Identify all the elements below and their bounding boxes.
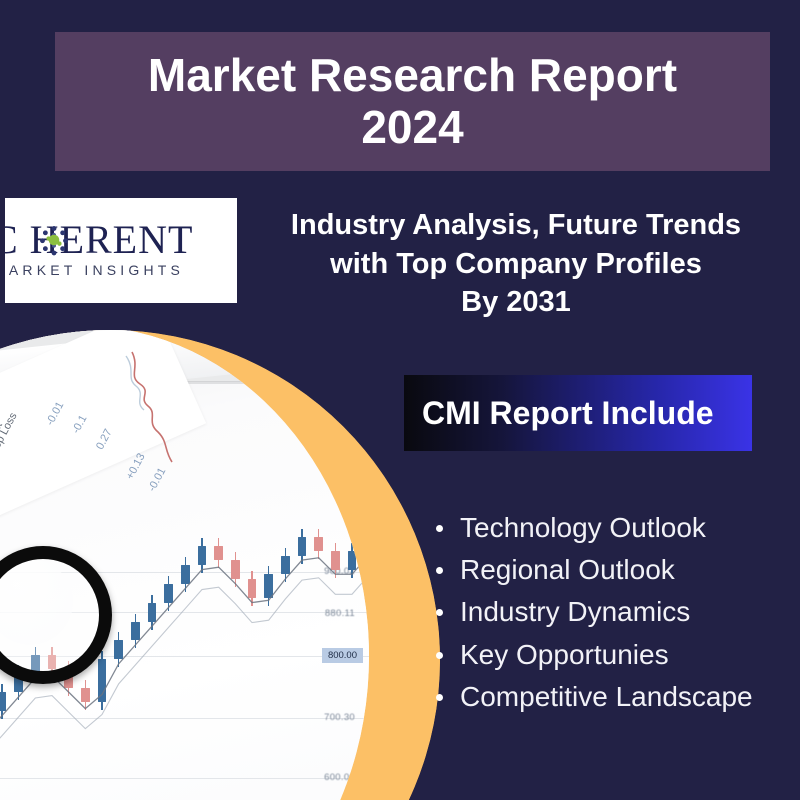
photo-clip: Stop Loss Take Profit -0.01 -0.1 0.27 +0… bbox=[0, 330, 369, 800]
list-item: Industry Dynamics bbox=[424, 592, 794, 631]
logo-tagline: MARKET INSIGHTS bbox=[5, 262, 237, 278]
title-line-1: Market Research Report bbox=[148, 50, 677, 102]
subtitle-line-1: Industry Analysis, Future Trends bbox=[238, 206, 794, 245]
list-item: Key Opportunies bbox=[424, 635, 794, 674]
subtitle-line-2: with Top Company Profiles bbox=[238, 245, 794, 284]
subtitle-block: Industry Analysis, Future Trends with To… bbox=[238, 206, 794, 322]
list-item: Regional Outlook bbox=[424, 550, 794, 589]
report-contents-list: Technology Outlook Regional Outlook Indu… bbox=[424, 508, 794, 719]
logo-inner: C HERENT MARKET INSIGHTS bbox=[5, 220, 237, 282]
note-number-5: -0.01 bbox=[146, 466, 168, 494]
list-item: Competitive Landscape bbox=[424, 677, 794, 716]
red-trend-squiggle bbox=[124, 350, 264, 465]
cmi-report-include-banner: CMI Report Include bbox=[404, 375, 752, 451]
grid-line bbox=[0, 778, 369, 779]
globe-sphere-icon bbox=[36, 222, 72, 258]
cmi-banner-label: CMI Report Include bbox=[404, 395, 714, 432]
photo-circle: Stop Loss Take Profit -0.01 -0.1 0.27 +0… bbox=[0, 330, 440, 800]
list-item: Technology Outlook bbox=[424, 508, 794, 547]
axis-label-price: 600.00 bbox=[324, 772, 355, 783]
title-line-2: 2024 bbox=[361, 102, 463, 154]
subtitle-line-3: By 2031 bbox=[238, 283, 794, 322]
poster-canvas: Stop Loss Take Profit -0.01 -0.1 0.27 +0… bbox=[0, 0, 800, 800]
photo-image-stock-chart: Stop Loss Take Profit -0.01 -0.1 0.27 +0… bbox=[0, 330, 369, 800]
logo-coherent-market-insights: C HERENT MARKET INSIGHTS bbox=[5, 198, 237, 303]
title-banner: Market Research Report 2024 bbox=[55, 32, 770, 171]
